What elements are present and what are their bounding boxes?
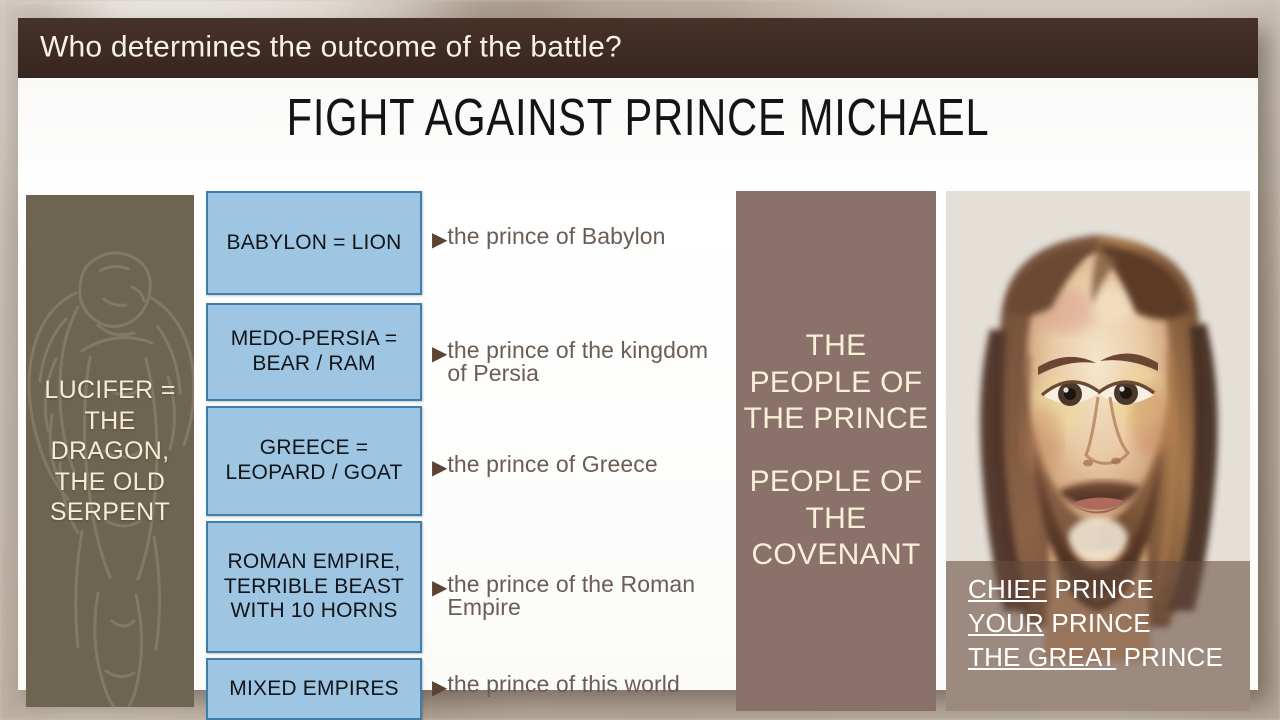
empire-box[interactable]: GREECE = LEOPARD / GOAT [206,406,422,516]
prince-list: ▶ the prince of Babylon ▶ the prince of … [432,191,732,711]
people-line-2: PEOPLE OF THE COVENANT [750,465,923,571]
header-bar: Who determines the outcome of the battle… [18,18,1258,78]
header-question: Who determines the outcome of the battle… [40,30,622,64]
page-title: FIGHT AGAINST PRINCE MICHAEL [142,92,1134,144]
lucifer-label: LUCIFER = THE DRAGON, THE OLD SERPENT [26,375,194,528]
empire-box[interactable]: BABYLON = LION [206,191,422,295]
list-item: ▶ the prince of the Roman Empire [432,573,730,620]
people-panel-text: THE PEOPLE OF THE PRINCE PEOPLE OF THE C… [736,328,936,574]
caption-line: YOUR PRINCE [968,607,1250,641]
empire-box[interactable]: MIXED EMPIRES [206,658,422,720]
people-line-1: THE PEOPLE OF THE PRINCE [744,329,929,435]
caption-emphasis: YOUR [968,608,1044,638]
slide-card: Who determines the outcome of the battle… [18,18,1258,690]
triangle-bullet-icon: ▶ [432,578,447,598]
empire-label: BABYLON = LION [221,231,408,256]
prince-label: the prince of the Roman Empire [447,573,730,620]
caption-emphasis: CHIEF [968,574,1047,604]
triangle-bullet-icon: ▶ [432,230,447,250]
caption-line: CHIEF PRINCE [968,573,1250,607]
caption-emphasis: THE GREAT [968,642,1116,672]
people-of-the-prince-panel: THE PEOPLE OF THE PRINCE PEOPLE OF THE C… [736,191,936,711]
prince-label: the prince of Babylon [447,225,665,248]
caption-rest: PRINCE [1044,608,1151,638]
content-columns: LUCIFER = THE DRAGON, THE OLD SERPENT BA… [18,173,1258,690]
prince-label: the prince of Greece [447,453,657,476]
empire-label: ROMAN EMPIRE, TERRIBLE BEAST WITH 10 HOR… [208,550,420,624]
jesus-portrait-panel: CHIEF PRINCE YOUR PRINCE THE GREAT PRINC… [946,191,1250,711]
list-item: ▶ the prince of Greece [432,453,730,478]
spacer [742,438,930,464]
empire-box[interactable]: MEDO-PERSIA = BEAR / RAM [206,303,422,401]
empire-label: MIXED EMPIRES [223,677,404,702]
empire-box[interactable]: ROMAN EMPIRE, TERRIBLE BEAST WITH 10 HOR… [206,521,422,653]
prince-label: the prince of the kingdom of Persia [447,339,730,386]
lucifer-panel: LUCIFER = THE DRAGON, THE OLD SERPENT [26,195,194,707]
empire-label: GREECE = LEOPARD / GOAT [208,436,420,486]
empire-box-list: BABYLON = LION MEDO-PERSIA = BEAR / RAM … [206,191,426,711]
empire-label: MEDO-PERSIA = BEAR / RAM [208,327,420,377]
caption-rest: PRINCE [1116,642,1223,672]
portrait-caption: CHIEF PRINCE YOUR PRINCE THE GREAT PRINC… [946,561,1250,711]
caption-line: THE GREAT PRINCE [968,641,1250,675]
list-item: ▶ the prince of this world [432,673,730,698]
list-item: ▶ the prince of Babylon [432,225,730,250]
caption-rest: PRINCE [1047,574,1154,604]
triangle-bullet-icon: ▶ [432,458,447,478]
triangle-bullet-icon: ▶ [432,678,447,698]
triangle-bullet-icon: ▶ [432,344,447,364]
prince-label: the prince of this world [447,673,680,696]
list-item: ▶ the prince of the kingdom of Persia [432,339,730,386]
